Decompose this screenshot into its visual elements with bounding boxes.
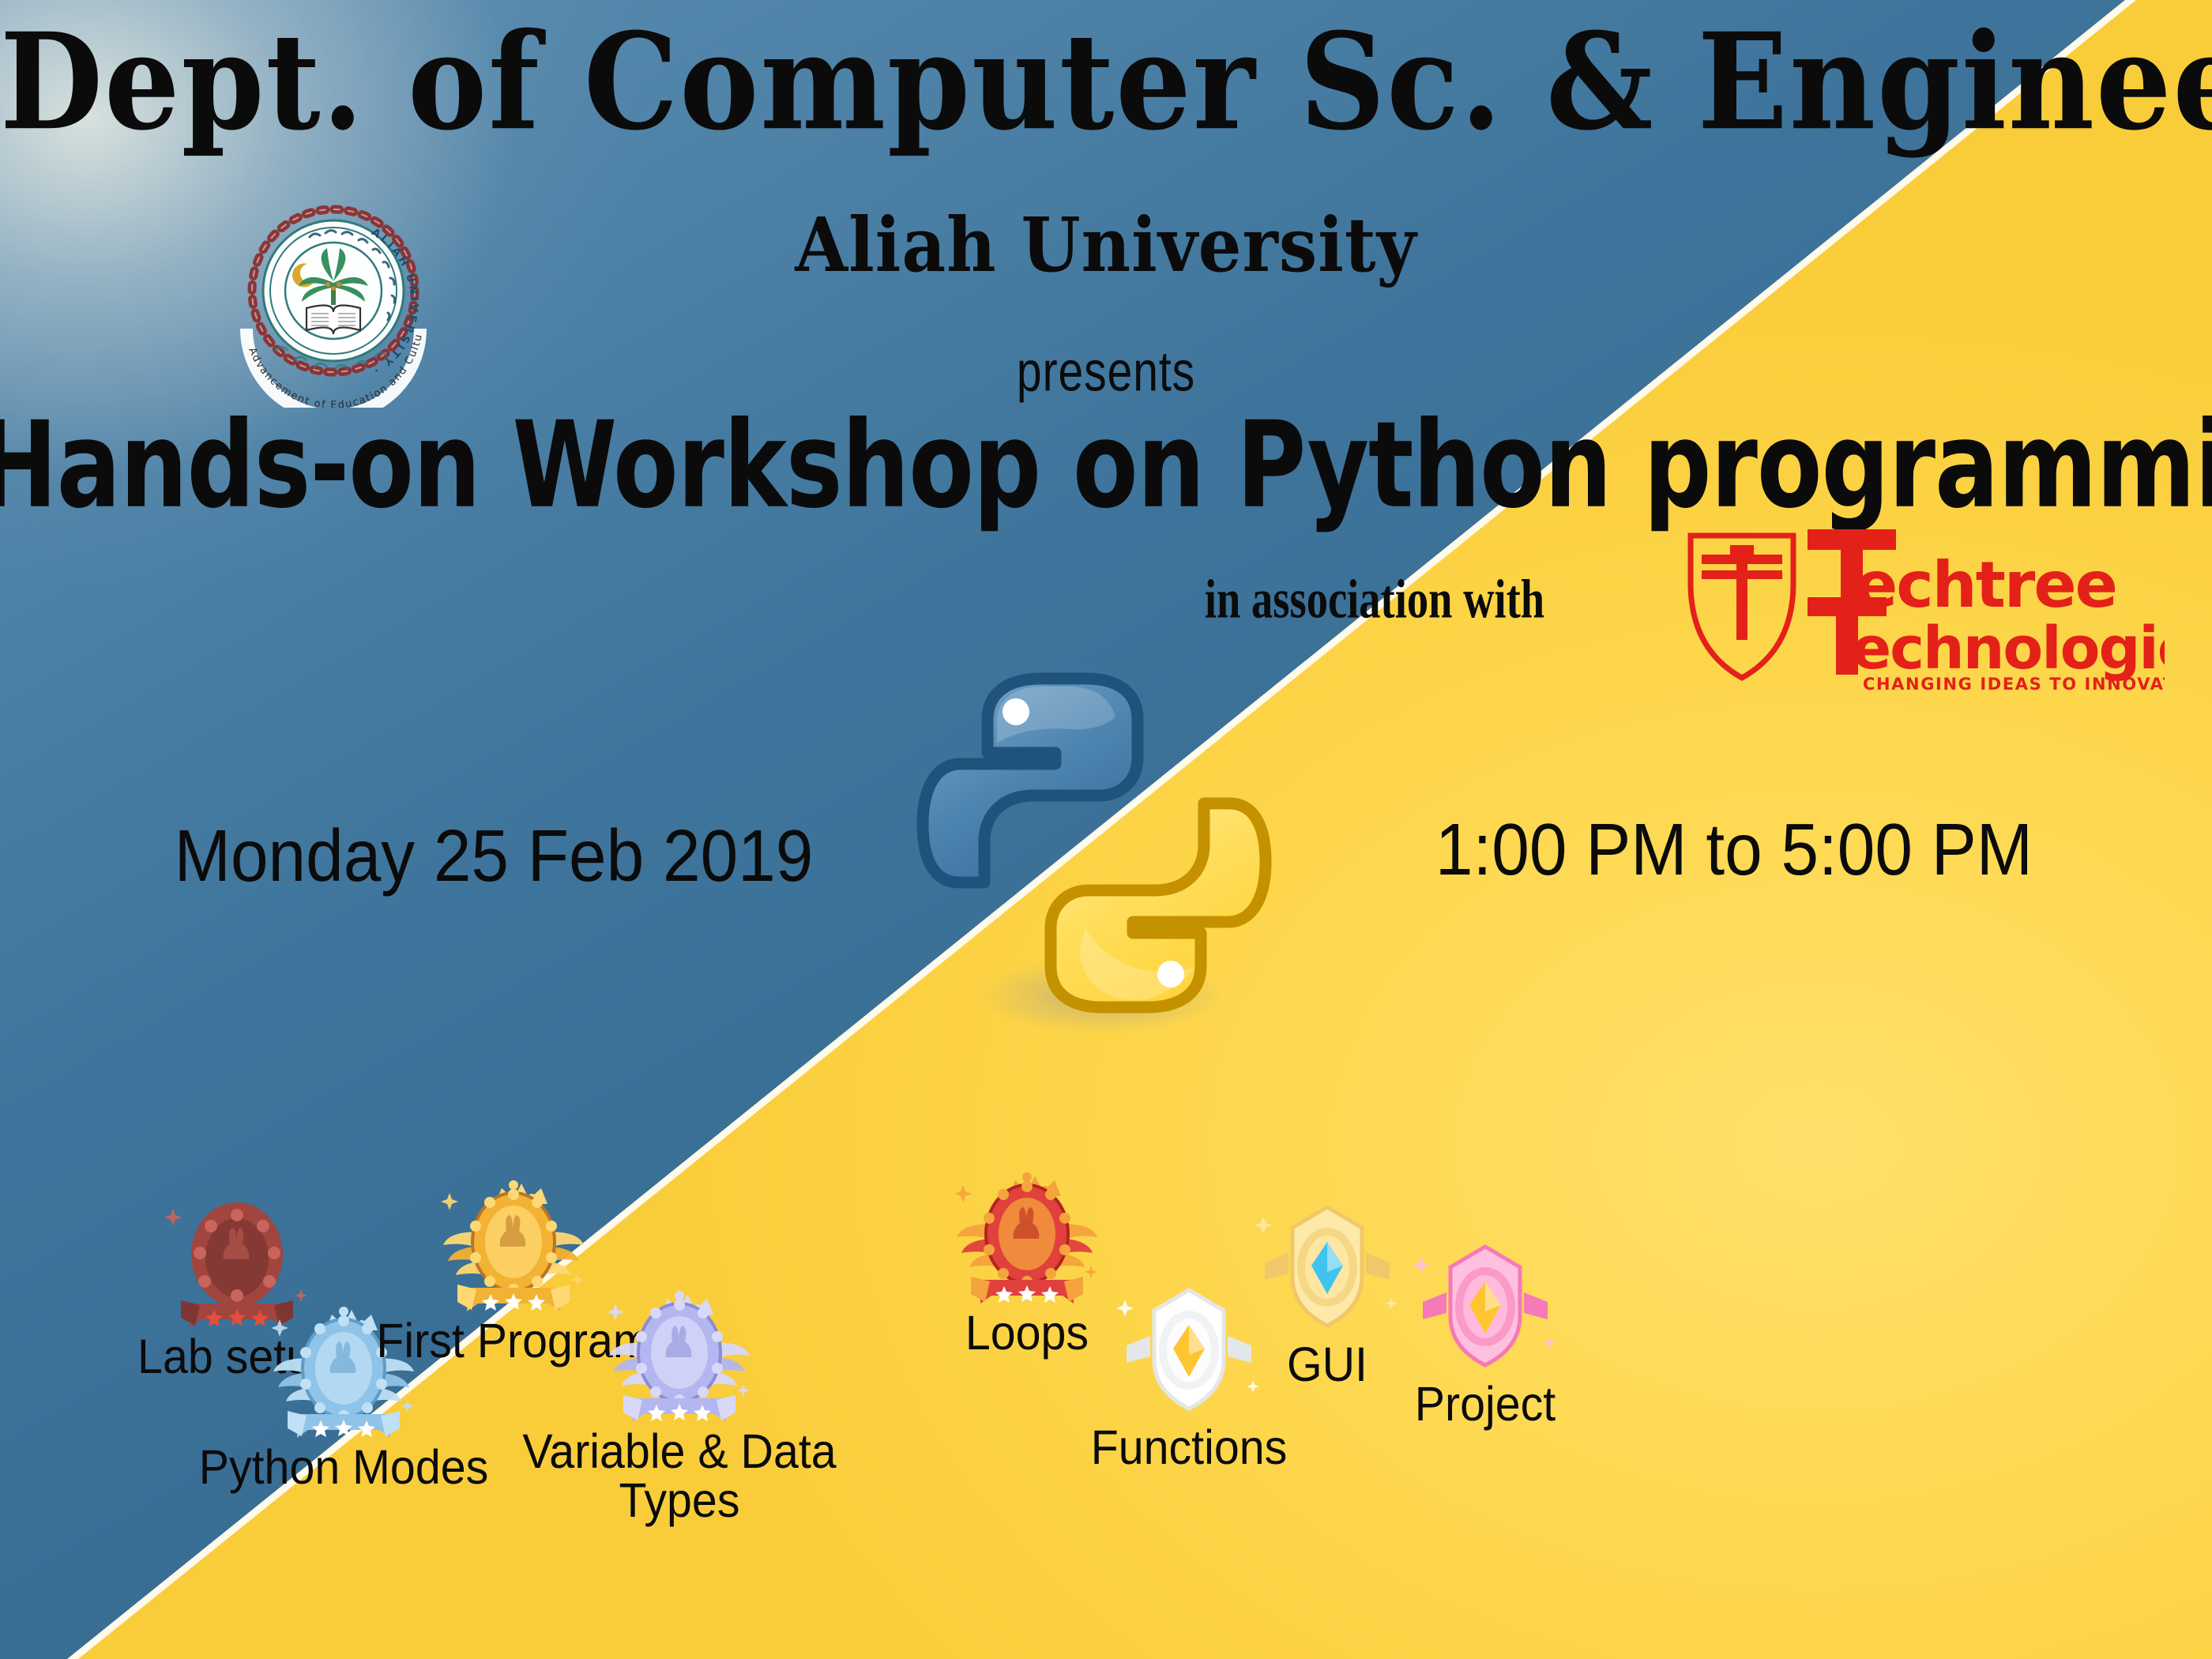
- violet-winged-badge-icon: [506, 1288, 853, 1430]
- pink-diamond-badge-icon: [1311, 1240, 1659, 1382]
- topic-badge-variable-data-types: Variable & Data Types: [506, 1288, 853, 1525]
- page-title: Hands-on Workshop on Python programming: [0, 395, 2212, 535]
- workshop-poster: Dept. of Computer Sc. & Engineering Alia…: [0, 0, 2212, 1659]
- python-logo-icon: [901, 668, 1288, 1039]
- techtree-tagline: CHANGING IDEAS TO INNOVATIONS: [1863, 675, 2165, 691]
- topic-label: Python Modes: [180, 1443, 507, 1492]
- department-title: Dept. of Computer Sc. & Engineering: [0, 16, 2212, 149]
- svg-text:echtree: echtree: [1855, 548, 2116, 622]
- association-label: in association with: [1137, 567, 1612, 630]
- topic-label: Variable & Data Types: [516, 1427, 843, 1525]
- event-time: 1:00 PM to 5:00 PM: [1389, 807, 2079, 892]
- aliah-university-seal-icon: ALIAH UNIVERSITY ·: [228, 196, 439, 408]
- event-date: Monday 25 Feb 2019: [149, 814, 839, 898]
- topic-badge-project: Project: [1311, 1240, 1659, 1428]
- topic-label: Functions: [1025, 1423, 1352, 1472]
- svg-text:echnologies: echnologies: [1852, 615, 2165, 683]
- topic-label: Project: [1322, 1379, 1649, 1428]
- techtree-technologies-logo: echtree echnologies CHANGING IDEAS TO IN…: [1675, 521, 2165, 691]
